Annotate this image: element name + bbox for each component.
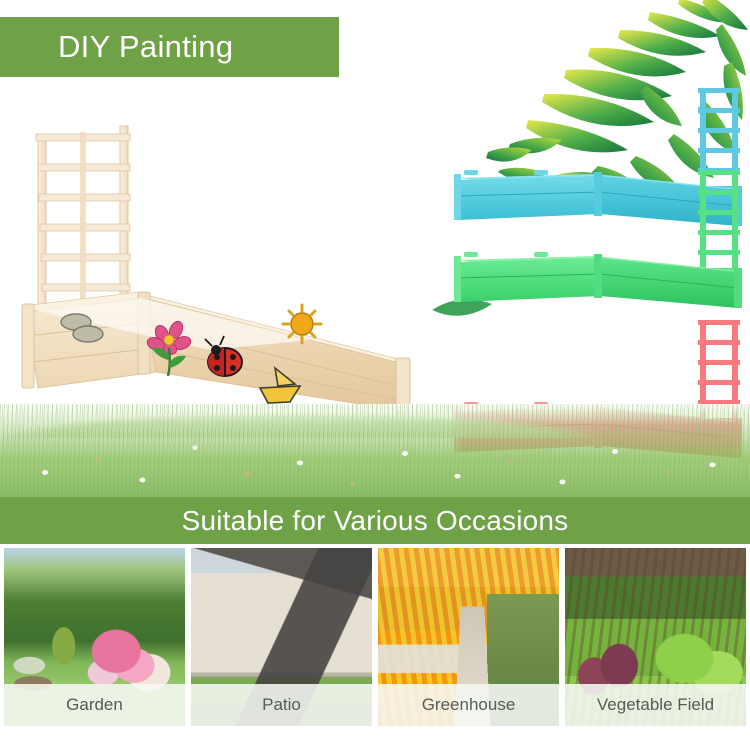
occasion-panel-vegetable-field[interactable]: Vegetable Field (565, 548, 746, 726)
diy-painting-banner: DIY Painting (0, 17, 339, 77)
occasion-label-vegetable-field: Vegetable Field (597, 695, 714, 715)
occasion-panel-greenhouse[interactable]: Greenhouse (378, 548, 559, 726)
sun-painting (283, 305, 321, 343)
occasion-panel-patio[interactable]: Patio (191, 548, 372, 726)
wooden-planter-product (10, 112, 420, 432)
grass-meadow-strip (0, 404, 750, 499)
occasion-caption: Patio (191, 684, 372, 726)
occasion-label-garden: Garden (66, 695, 123, 715)
occasion-caption: Garden (4, 684, 185, 726)
occasion-label-greenhouse: Greenhouse (422, 695, 516, 715)
occasion-label-patio: Patio (262, 695, 301, 715)
occasions-title: Suitable for Various Occasions (182, 505, 569, 537)
occasion-caption: Greenhouse (378, 684, 559, 726)
trellis (698, 170, 740, 276)
occasion-panel-grid: Garden Patio Greenhouse Vegetable Field (0, 548, 750, 726)
occasion-panel-garden[interactable]: Garden (4, 548, 185, 726)
page-title: DIY Painting (0, 29, 233, 65)
product-marketing-image: DIY Painting (0, 0, 750, 750)
occasion-caption: Vegetable Field (565, 684, 746, 726)
planter-variant-green (448, 168, 748, 320)
occasions-banner: Suitable for Various Occasions (0, 497, 750, 544)
